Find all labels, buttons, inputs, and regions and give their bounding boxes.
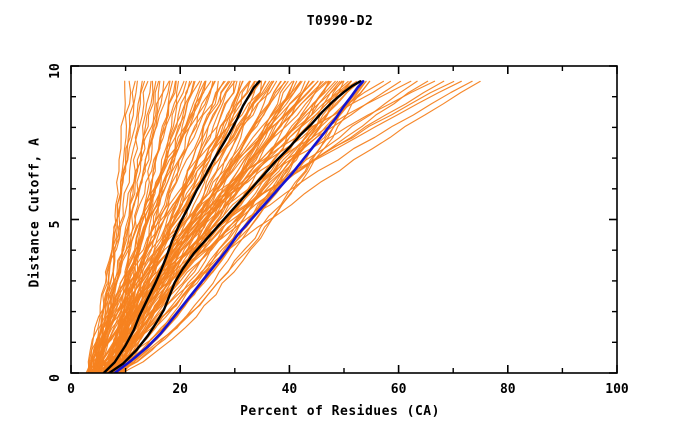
- x-tick-label: 100: [605, 382, 629, 397]
- x-tick-label: 20: [172, 382, 188, 397]
- x-tick-label-group: 020406080100: [67, 382, 629, 397]
- chart-figure: T0990-D2 Distance Cutoff, A Percent of R…: [0, 0, 680, 440]
- x-tick-label: 0: [67, 382, 75, 397]
- y-tick-label: 5: [48, 221, 63, 229]
- x-tick-label: 60: [391, 382, 407, 397]
- x-tick-label: 80: [500, 382, 516, 397]
- y-tick-label: 10: [48, 63, 63, 79]
- chart-canvas: 020406080100 0510: [0, 0, 680, 440]
- y-tick-label: 0: [48, 374, 63, 382]
- orange-curve-bundle: [86, 81, 480, 373]
- y-tick-label-group: 0510: [48, 63, 63, 382]
- x-tick-label: 40: [282, 382, 298, 397]
